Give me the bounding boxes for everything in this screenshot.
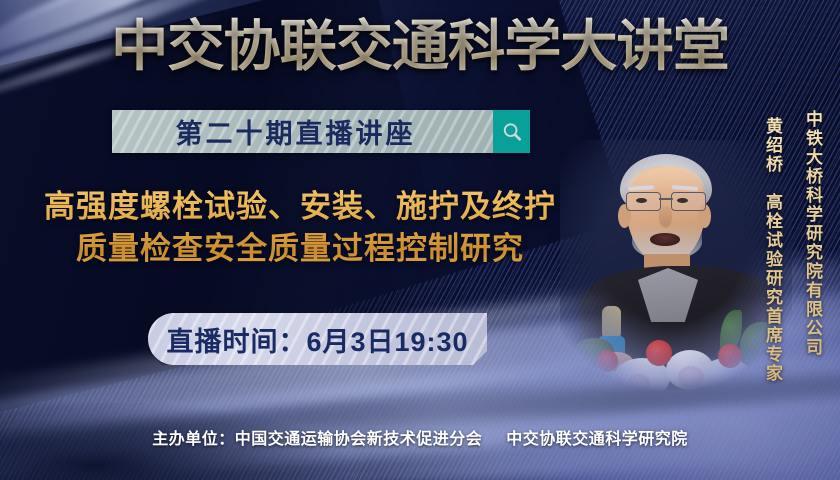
organizer-prefix: 主办单位： xyxy=(152,431,235,448)
bouquet-flower-red xyxy=(646,340,672,366)
search-icon xyxy=(501,121,523,143)
search-button[interactable] xyxy=(493,110,530,153)
organizer-name-2: 中交协联交通科学研究院 xyxy=(506,431,688,448)
bouquet-flower-red xyxy=(596,350,618,372)
bouquet-flower-red xyxy=(718,344,742,368)
photo-mouth xyxy=(650,233,680,246)
photo-glasses-bridge xyxy=(659,198,673,200)
lecture-heading-line1: 高强度螺栓试验、安装、施拧及终拧 xyxy=(0,186,600,228)
bouquet-flower-white xyxy=(582,368,622,390)
episode-subtitle-label: 第二十期直播讲座 xyxy=(112,112,493,151)
bouquet-flower-pink xyxy=(678,366,704,388)
live-stream-poster: 中交协联交通科学大讲堂 第二十期直播讲座 高强度螺栓试验、安装、施拧及终拧 质量… xyxy=(0,0,840,480)
organizer-name-1: 中国交通运输协会新技术促进分会 xyxy=(235,431,483,448)
live-time-badge: 直播时间：6月3日19:30 xyxy=(148,313,487,365)
bouquet-flower-pink xyxy=(628,374,650,390)
speaker-organization: 中铁大桥科学研究院有限公司 xyxy=(802,110,823,357)
photo-microphone-head xyxy=(602,306,621,340)
lecture-heading-line2: 质量检查安全质量过程控制研究 xyxy=(0,228,600,270)
photo-eye-right xyxy=(677,198,688,203)
live-time-label: 直播时间：6月3日19:30 xyxy=(166,320,468,359)
episode-subtitle-bar: 第二十期直播讲座 xyxy=(112,110,530,153)
lecture-heading: 高强度螺栓试验、安装、施拧及终拧 质量检查安全质量过程控制研究 xyxy=(0,186,600,270)
speaker-name-and-role: 黄绍桥 高栓试验研究首席专家 xyxy=(762,117,783,383)
organizer-footer: 主办单位：中国交通运输协会新技术促进分会中交协联交通科学研究院 xyxy=(0,425,840,449)
photo-eye-left xyxy=(636,198,647,203)
photo-bouquet xyxy=(570,336,792,390)
page-title: 中交协联交通科学大讲堂 xyxy=(0,17,840,75)
